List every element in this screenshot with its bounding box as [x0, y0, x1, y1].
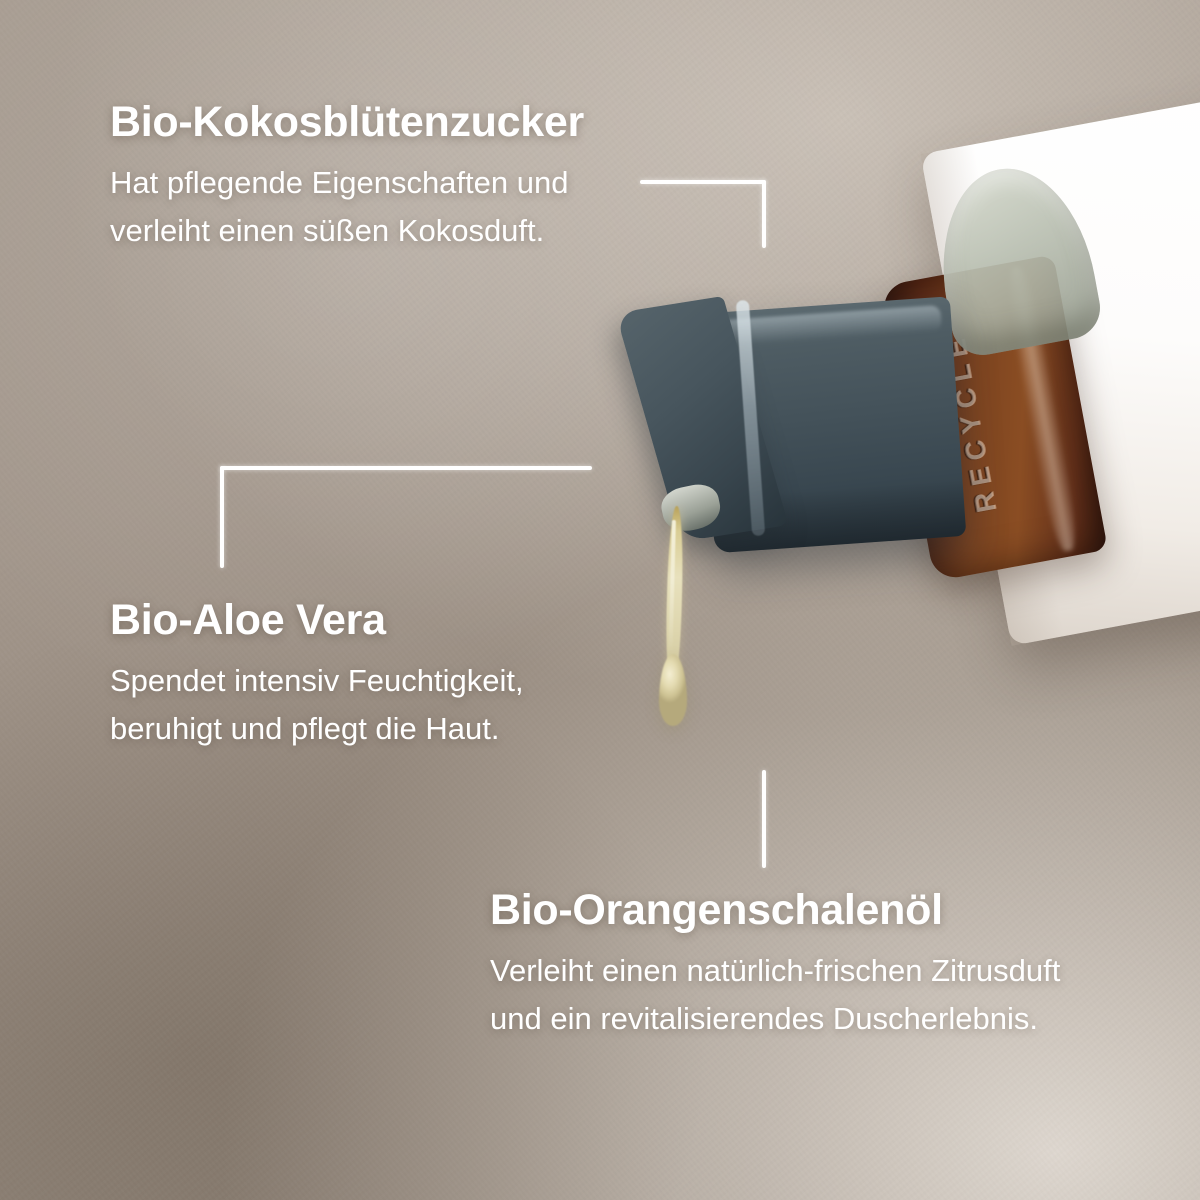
callout-aloe-heading: Bio-Aloe Vera	[110, 596, 580, 644]
infographic-canvas: RECYCLE Bio-Kokosblütenzucker Hat pflege…	[0, 0, 1200, 1200]
callout-orange: Bio-Orangenschalenöl Verleiht einen natü…	[490, 886, 1110, 1042]
callout-coconut-body: Hat pflegende Eigenschaften und verleiht…	[110, 159, 670, 254]
callout-orange-heading: Bio-Orangenschalenöl	[490, 886, 1110, 934]
callout-coconut: Bio-Kokosblütenzucker Hat pflegende Eige…	[110, 98, 670, 254]
connector-coconut-vertical	[762, 180, 766, 248]
callout-aloe: Bio-Aloe Vera Spendet intensiv Feuchtigk…	[110, 596, 580, 752]
gel-drip-droplet	[659, 654, 687, 726]
callout-aloe-body: Spendet intensiv Feuchtigkeit, beruhigt …	[110, 657, 580, 752]
connector-aloe-horizontal	[220, 466, 592, 470]
connector-aloe-vertical	[220, 466, 224, 568]
callout-orange-body: Verleiht einen natürlich-frischen Zitrus…	[490, 947, 1110, 1042]
connector-orange-vertical	[762, 770, 766, 868]
callout-coconut-heading: Bio-Kokosblütenzucker	[110, 98, 670, 146]
